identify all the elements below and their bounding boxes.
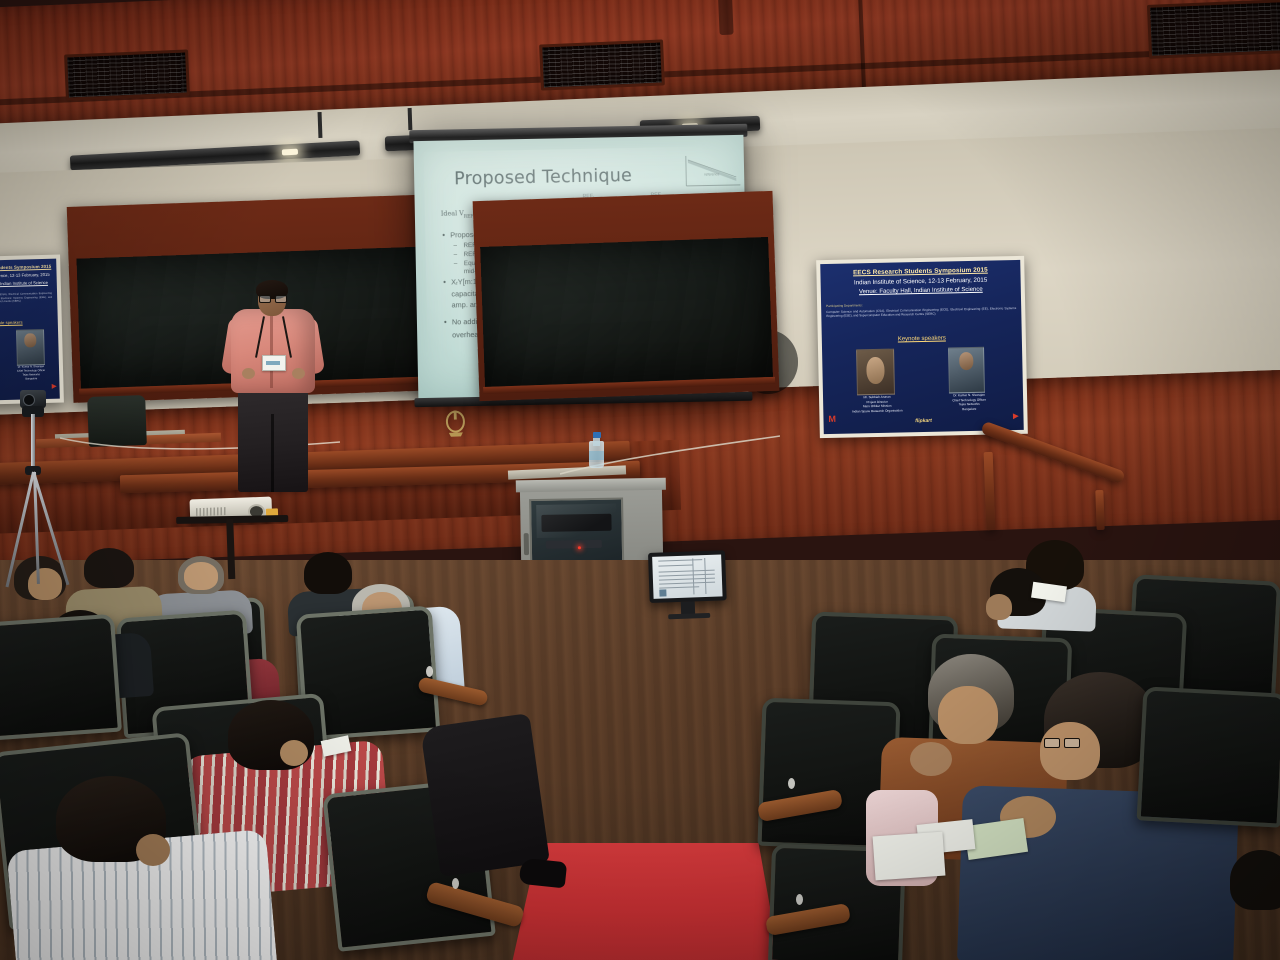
ceiling-vent-right: [1147, 0, 1280, 59]
attendee-ear-neck: [280, 740, 308, 766]
banner-left-caption: Dr. Kumar N. Sivarajan Chief Technology …: [5, 365, 57, 382]
light-lamp-left: [282, 149, 298, 156]
tripod-leg-1: [5, 472, 34, 588]
ceiling-vent-center: [539, 39, 665, 90]
bottle-neck: [593, 438, 600, 446]
chair-backrest: [0, 614, 122, 741]
banner-venue: Venue: Faculty Hall, Indian Institute of…: [821, 286, 1021, 296]
projector-vent: [196, 507, 226, 516]
presenter-hand-left: [242, 368, 255, 379]
attendee-head: [938, 686, 998, 744]
presenter-trousers: [238, 388, 308, 492]
banner-left-title: EECS Research Students Symposium 2015: [0, 264, 56, 272]
blackboard-surface-right: [480, 237, 773, 387]
rack-power-led: [578, 546, 581, 549]
ceiling-vent-left: [64, 49, 190, 100]
camera-tripod: [2, 392, 64, 592]
tripod-center-column: [31, 414, 35, 468]
banner-dept-heading: Participating Departments:: [826, 303, 863, 308]
slide-title: Proposed Technique: [454, 166, 632, 189]
svg-text:reference: reference: [704, 172, 719, 176]
blackboard-frame-right: [473, 191, 780, 401]
bottle-cap: [593, 432, 601, 438]
chair-backrest: [1137, 686, 1280, 827]
banner-left-content: EECS Research Students Symposium 2015 In…: [0, 259, 60, 402]
chair-number-plate: [426, 666, 433, 677]
presenter-name-badge: [262, 355, 286, 371]
chair-number-plate: [796, 894, 803, 905]
keynote-speaker-caption-1: Mr. Subbiah Arunan Project Director Mars…: [831, 394, 923, 414]
monitor-screen: [652, 554, 722, 598]
chair-number-plate: [452, 878, 459, 889]
chair-number-plate: [788, 778, 795, 789]
light-track-rod-b: [408, 108, 413, 130]
handrail-post-lower: [1095, 490, 1104, 530]
banner-subtitle: Indian Institute of Science, 12-13 Febru…: [821, 276, 1021, 287]
keynote-speaker-photo-1: [856, 349, 895, 396]
water-bottle[interactable]: [589, 432, 604, 468]
bottle-label: [589, 451, 604, 460]
banner-content: EECS Research Students Symposium 2015 In…: [820, 260, 1024, 434]
formula-lead: Ideal VREF: [441, 209, 474, 220]
attendee-head: [1040, 722, 1100, 780]
symposium-banner-left: EECS Research Students Symposium 2015 In…: [0, 255, 64, 406]
attendee-paper-sheet-2: [873, 832, 946, 881]
rack-unit-a: [541, 514, 611, 532]
light-track-rod-a: [318, 112, 323, 138]
attendee-eyeglasses-icon: [1044, 738, 1080, 744]
presenter-shirt-placket: [270, 312, 273, 388]
banner-left-keynote: Keynote speakers: [0, 319, 58, 327]
keynote-speaker-caption-2: Dr. Kumar N. Sivarajan Chief Technology …: [923, 392, 1015, 412]
rack-unit-b: [546, 540, 602, 549]
banner-left-venue: Venue: Faculty Hall, Indian Institute of…: [0, 280, 57, 288]
attendee-head: [986, 594, 1012, 620]
banner-left-dept: Computer Science and Automation (CSA), E…: [0, 292, 52, 305]
sponsor-logo-left: M: [828, 414, 836, 424]
presenter-eyeglasses-icon: [259, 295, 285, 301]
attendee-head: [184, 562, 218, 590]
banner-keynote-heading: Keynote speakers: [822, 334, 1022, 344]
attendee-legs-aisle: [420, 713, 550, 877]
attendee-hair: [1230, 850, 1280, 910]
attendee-hair: [84, 548, 134, 588]
ceiling-fixture-stub: [717, 0, 733, 35]
lecture-hall-photo: Proposed Technique Ideal VREF = (VBL0(μ+…: [0, 0, 1280, 960]
projector-assembly: [190, 497, 273, 530]
presenter-hand-right: [292, 368, 305, 379]
keynote-speaker-photo-2: [948, 347, 985, 394]
symposium-banner-right: EECS Research Students Symposium 2015 In…: [816, 256, 1028, 438]
banner-title: EECS Research Students Symposium 2015: [820, 266, 1020, 277]
banner-left-photo: [16, 329, 45, 366]
sponsor-logo-right: ▶: [1013, 412, 1019, 420]
slide-inset-plot: reference: [678, 153, 745, 192]
attendee-ear-neck: [136, 834, 170, 866]
attendee-hair: [304, 552, 352, 594]
attendee-hand: [910, 742, 952, 776]
attendee-shoe: [519, 858, 567, 889]
banner-dept-body: Computer Science and Automation (CSA), E…: [826, 306, 1016, 319]
banner-left-logo: ▶: [52, 383, 57, 390]
banner-left-subtitle: Indian Institute of Science, 12-13 Febru…: [0, 272, 57, 280]
badge-strip: [266, 361, 280, 365]
presenter-shirt: [231, 309, 315, 393]
rack-door-handle[interactable]: [524, 533, 529, 555]
